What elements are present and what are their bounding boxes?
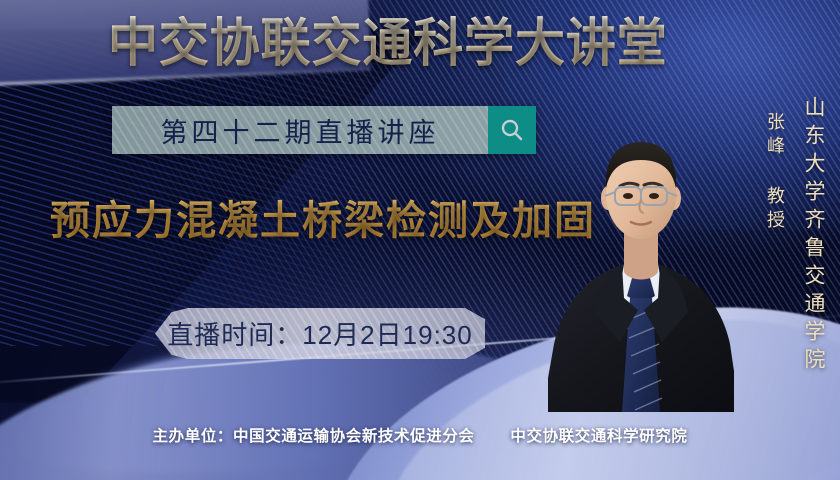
lecture-poster: 中交协联交通科学大讲堂 第四十二期直播讲座 预应力混凝土桥梁检测及加固 直播时间…	[0, 0, 840, 480]
footer-organizer-secondary: 中交协联交通科学研究院	[510, 428, 687, 445]
subtitle-label: 第四十二期直播讲座	[157, 111, 440, 150]
lecture-topic: 预应力混凝土桥梁检测及加固	[50, 188, 596, 246]
subtitle-bar: 第四十二期直播讲座	[112, 106, 536, 154]
footer-organizer-primary: 主办单位：中国交通运输协会新技术促进分会	[153, 428, 475, 445]
speaker-portrait	[548, 112, 734, 412]
footer-organizers: 主办单位：中国交通运输协会新技术促进分会 中交协联交通科学研究院	[0, 424, 840, 446]
search-icon	[499, 117, 525, 143]
broadcast-time-label: 直播时间：12月2日19:30	[167, 315, 472, 352]
broadcast-time-pill: 直播时间：12月2日19:30	[155, 308, 485, 359]
speaker-info: 张峰 教授 山东大学齐鲁交通学院	[762, 96, 828, 376]
speaker-organization: 山东大学齐鲁交通学院	[798, 96, 828, 376]
main-title: 中交协联交通科学大讲堂	[108, 16, 668, 72]
speaker-name-title: 张峰 教授	[762, 112, 788, 234]
search-icon-container[interactable]	[488, 106, 536, 154]
subtitle-bar-background: 第四十二期直播讲座	[112, 106, 488, 154]
